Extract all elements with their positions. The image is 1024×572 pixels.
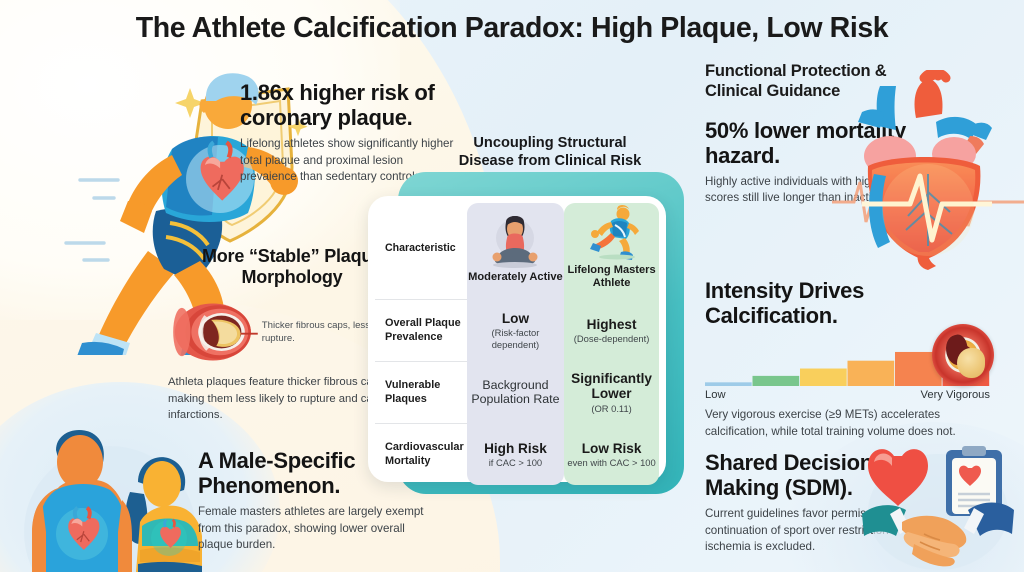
section-intensity-calcification: Intensity Drives Calcification. Low Very… (705, 278, 995, 440)
axis-label-low: Low (705, 389, 726, 401)
header-masters-athlete: Lifelong Masters Athlete (564, 203, 659, 299)
page-title: The Athlete Calcification Paradox: High … (0, 12, 1024, 45)
cell-subvalue: (Dose-dependent) (564, 333, 659, 344)
artery-plaque-icon (932, 324, 994, 386)
cell-subvalue: (Risk-factor dependent) (467, 327, 564, 350)
cell-subvalue: even with CAC > 100 (564, 457, 659, 468)
cell-moderate-overall-plaque: Low (Risk-factor dependent) (467, 299, 564, 361)
infographic-canvas: The Athlete Calcification Paradox: High … (0, 0, 1024, 572)
anatomical-heart-ecg-illustration (832, 70, 1024, 270)
ramp-segment (848, 361, 895, 386)
intensity-axis-labels: Low Very Vigorous (705, 389, 990, 401)
axis-label-very-vigorous: Very Vigorous (921, 389, 990, 401)
running-athlete-icon (581, 205, 643, 261)
cell-athlete-overall-plaque: Highest (Dose-dependent) (564, 299, 659, 361)
comparison-table-card: Characteristic (368, 196, 666, 482)
cell-athlete-vulnerable: Significantly Lower (OR 0.11) (564, 361, 659, 423)
cell-moderate-vulnerable: Background Population Rate (467, 361, 564, 423)
table-header-row: Characteristic (375, 203, 659, 299)
table-row: Vulnerable Plaques Background Population… (375, 361, 659, 423)
comparison-table: Characteristic (375, 203, 659, 485)
cell-athlete-mortality: Low Risk even with CAC > 100 (564, 423, 659, 485)
cell-value: High Risk (467, 441, 564, 456)
header-masters-athlete-label: Lifelong Masters Athlete (564, 264, 659, 290)
cell-value: Background Population Rate (467, 378, 564, 406)
artery-cross-section-illustration (168, 296, 258, 368)
ramp-segment (753, 376, 800, 386)
table-row: Overall Plaque Prevalence Low (Risk-fact… (375, 299, 659, 361)
row-label-cv-mortality: Cardiovascular Mortality (385, 441, 467, 467)
section-plaque-risk: 1.86x higher risk of coronary plaque. Li… (240, 80, 456, 186)
intensity-body: Very vigorous exercise (≥9 METs) acceler… (705, 407, 995, 440)
row-label-overall-plaque: Overall Plaque Prevalence (385, 317, 467, 343)
ramp-segment (705, 382, 752, 386)
ramp-segment (800, 369, 847, 386)
male-body: Female masters athletes are largely exem… (198, 504, 430, 553)
header-characteristic: Characteristic (375, 203, 467, 299)
header-moderately-active: Moderately Active (467, 203, 564, 299)
table-row: Cardiovascular Mortality High Risk if CA… (375, 423, 659, 485)
cell-value: Low (467, 311, 564, 326)
cell-subvalue: if CAC > 100 (467, 457, 564, 468)
header-moderately-active-label: Moderately Active (467, 271, 564, 284)
intensity-ramp-chart (705, 340, 990, 386)
cell-value: Significantly Lower (564, 371, 659, 402)
table-title: Uncoupling Structural Disease from Clini… (446, 134, 654, 170)
intensity-heading: Intensity Drives Calcification. (705, 278, 995, 328)
cell-value: Low Risk (564, 441, 659, 456)
cell-value: Highest (564, 317, 659, 332)
cell-subvalue: (OR 0.11) (564, 403, 659, 414)
row-label-vulnerable-plaques: Vulnerable Plaques (385, 379, 467, 405)
risk-heading: 1.86x higher risk of coronary plaque. (240, 80, 456, 130)
handshake-heart-clipboard-illustration (862, 440, 1014, 572)
meditating-person-icon (484, 212, 546, 268)
cell-moderate-mortality: High Risk if CAC > 100 (467, 423, 564, 485)
male-female-athletes-heart-illustration (12, 422, 208, 572)
